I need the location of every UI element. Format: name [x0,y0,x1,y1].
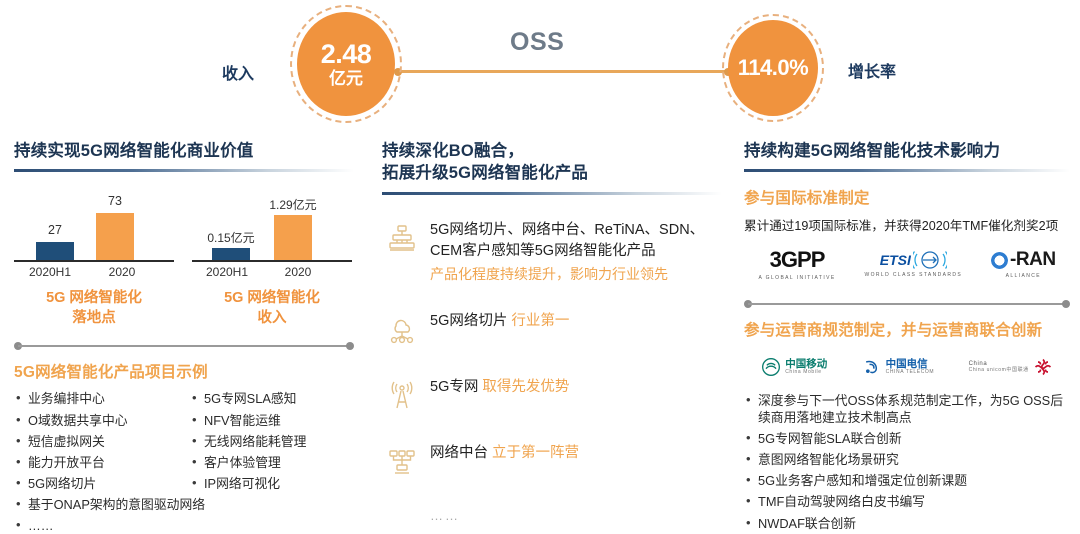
middle-row-text: 网络中台 立于第一阵营 [430,442,579,464]
chart-caption-line1: 5G 网络智能化 [192,289,352,309]
product-list-left: 业务编排中心 O域数据共享中心 短信虚拟网关 能力开放平台 5G网络切片 基于O… [14,391,184,534]
kpi-revenue-bubble: 2.48 亿元 [290,5,402,123]
list-item: NFV智能运维 [190,413,353,430]
3gpp-wordmark: 3GPP [770,247,825,273]
chart-caption-line2: 落地点 [14,309,174,329]
hero-center-title: OSS [510,28,564,57]
china-unicom-text: China China unicom中国联通 [969,361,1029,373]
middle-rows: 5G网络切片、网络中台、ReTiNA、SDN、 CEM客户感知等5G网络智能化产… [382,219,722,524]
chart-plot-area: 0.15亿元 1.29亿元 [192,188,352,262]
chart-category-label: 2020 [262,265,334,279]
right-column-title: 持续构建5G网络智能化技术影响力 [744,140,1070,162]
standards-logo-row: 3GPP A GLOBAL INITIATIVE ETSI World Clas… [744,242,1070,286]
hero-kpi-band: 收入 2.48 亿元 OSS 114.0% 增长率 [0,0,1080,128]
chart-landing-points: 27 73 2020H1 2020 5G 网络智能化 落地点 [14,188,174,328]
row-main-text: 5G网络切片 [430,313,507,329]
list-item: 短信虚拟网关 [14,434,184,451]
oran-tagline: ALLIANCE [1006,273,1041,279]
server-stack-icon [382,219,422,259]
antenna-tower-icon [382,376,422,416]
left-column-title: 持续实现5G网络智能化商业价值 [14,140,354,162]
list-item: NWDAF联合创新 [744,516,1070,533]
international-standards-note: 累计通过19项国际标准，并获得2020年TMF催化剂奖2项 [744,215,1070,234]
section-divider [14,342,354,350]
middle-title-line2: 拓展升级5G网络智能化产品 [382,162,722,184]
row-highlight: 行业第一 [511,313,569,329]
list-item: 无线网络能耗管理 [190,434,353,451]
row-main-line1: 5G网络切片 行业第一 [430,311,569,332]
list-item: 5G专网智能SLA联合创新 [744,431,1070,448]
chart-category-label: 2020H1 [192,265,262,279]
china-mobile-text: 中国移动 China Mobile [785,359,827,375]
list-item: IP网络可视化 [190,476,353,493]
bubble-body: 2.48 亿元 [297,12,395,116]
row-main-line2: CEM客户感知等5G网络智能化产品 [430,241,704,262]
bar-2020: 1.29亿元 [274,215,312,260]
3gpp-tagline: A GLOBAL INITIATIVE [758,275,835,281]
3gpp-logo: 3GPP A GLOBAL INITIATIVE [758,247,835,281]
row-highlight: 取得先发优势 [482,379,569,395]
bar-charts-group: 27 73 2020H1 2020 5G 网络智能化 落地点 [14,188,354,328]
list-item: 客户体验管理 [190,455,353,472]
section-divider [744,300,1070,308]
chart-caption: 5G 网络智能化 收入 [192,289,352,328]
middle-row-private-network: 5G专网 取得先发优势 [382,376,722,416]
chart-revenue: 0.15亿元 1.29亿元 2020H1 2020 5G 网络智能化 收入 [192,188,352,328]
chart-category-row: 2020H1 2020 [192,265,352,279]
chart-category-label: 2020H1 [14,265,86,279]
row-main-line1: 网络中台 立于第一阵营 [430,443,579,464]
divider-dot-right [1062,300,1070,308]
operator-name-en: CHINA TELECOM [886,370,935,375]
cloud-network-icon [382,310,422,350]
middle-row-text: 5G专网 取得先发优势 [430,376,569,398]
china-telecom-icon [862,357,882,377]
bar-value-label: 27 [48,223,62,237]
bubble-body: 114.0% [728,20,818,116]
bar-2020h1: 27 [36,242,74,260]
row-main-line1: 5G网络切片、网络中台、ReTiNA、SDN、 [430,220,704,241]
middle-row-text: 5G网络切片 行业第一 [430,310,569,332]
title-underline [744,169,1070,172]
product-examples-title: 5G网络智能化产品项目示例 [14,360,354,382]
list-item: 5G专网SLA感知 [190,391,353,408]
etsi-mark: ETSI [880,250,947,270]
middle-ellipsis: …… [430,508,722,523]
bar-value-label: 0.15亿元 [207,229,254,246]
china-mobile-logo: 中国移动 China Mobile [761,357,827,377]
etsi-logo: ETSI World Class Standards [865,250,963,278]
china-telecom-text: 中国电信 CHINA TELECOM [886,359,935,375]
chart-plot-area: 27 73 [14,188,174,262]
middle-column-title: 持续深化BO融合， 拓展升级5G网络智能化产品 [382,140,722,185]
etsi-tagline: World Class Standards [865,272,963,278]
china-telecom-logo: 中国电信 CHINA TELECOM [862,357,935,377]
middle-row-network-midplatform: 网络中台 立于第一阵营 [382,442,722,482]
oran-mark: -RAN [991,249,1056,271]
title-underline [14,169,354,172]
title-underline [382,192,722,195]
bar-2020h1: 0.15亿元 [212,248,250,260]
operator-logo-row: 中国移动 China Mobile 中国电信 CHINA TELECOM Chi… [744,349,1070,385]
oran-logo: -RAN ALLIANCE [991,249,1056,279]
middle-row-products: 5G网络切片、网络中台、ReTiNA、SDN、 CEM客户感知等5G网络智能化产… [382,219,722,285]
slide-canvas: 收入 2.48 亿元 OSS 114.0% 增长率 持续实现5G网络智能化商业价… [0,0,1080,534]
list-item: TMF自动驾驶网络白皮书编写 [744,494,1070,511]
list-item: 能力开放平台 [14,455,184,472]
list-item: 基于ONAP架构的意图驱动网络 [14,497,224,514]
product-examples-lists: 业务编排中心 O域数据共享中心 短信虚拟网关 能力开放平台 5G网络切片 基于O… [14,391,354,534]
list-item: …… [14,518,184,534]
row-main-line1: 5G专网 取得先发优势 [430,377,569,398]
row-highlight: 立于第一阵营 [492,445,579,461]
list-item: 5G业务客户感知和增强定位创新课题 [744,473,1070,490]
middle-row-slicing: 5G网络切片 行业第一 [382,310,722,350]
list-item: O域数据共享中心 [14,413,184,430]
operator-collaboration-title: 参与运营商规范制定，并与运营商联合创新 [744,318,1070,340]
oran-ring-icon [991,252,1008,269]
china-unicom-icon [1033,357,1053,377]
bar-fill [96,213,134,260]
kpi-revenue-value: 2.48 [321,40,372,68]
chart-axis-line [14,260,174,262]
operator-name-cn: China unicom中国联通 [969,368,1029,373]
row-note: 产品化程度持续提升，影响力行业领先 [430,265,704,285]
chart-category-row: 2020H1 2020 [14,265,174,279]
international-standards-title: 参与国际标准制定 [744,186,1070,208]
kpi-growth-bubble: 114.0% [722,14,824,122]
bar-value-label: 1.29亿元 [269,196,316,213]
middle-column: 持续深化BO融合， 拓展升级5G网络智能化产品 5G网络切片、网络 [382,140,722,523]
kpi-left-label: 收入 [222,60,254,84]
kpi-connector-line [397,70,729,73]
right-column: 持续构建5G网络智能化技术影响力 参与国际标准制定 累计通过19项国际标准，并获… [744,140,1070,534]
list-item: 业务编排中心 [14,391,184,408]
bar-value-label: 73 [108,194,122,208]
bar-fill [212,248,250,260]
bar-fill [274,215,312,260]
left-column: 持续实现5G网络智能化商业价值 27 73 2020H1 [14,140,354,534]
bar-fill [36,242,74,260]
china-mobile-icon [761,357,781,377]
kpi-growth-value: 114.0% [738,56,808,79]
bar-2020: 73 [96,213,134,260]
etsi-wordmark: ETSI [880,252,911,268]
chart-caption-line2: 收入 [192,309,352,329]
chart-caption: 5G 网络智能化 落地点 [14,289,174,328]
chart-category-label: 2020 [86,265,158,279]
kpi-right-label: 增长率 [848,58,896,82]
chart-caption-line1: 5G 网络智能化 [14,289,174,309]
chart-axis-line [192,260,352,262]
list-item: 深度参与下一代OSS体系规范制定工作，为5G OSS后续商用落地建立技术制高点 [744,393,1070,426]
divider-dot-right [346,342,354,350]
china-unicom-logo: China China unicom中国联通 [969,357,1053,377]
kpi-revenue-unit: 亿元 [329,70,363,88]
etsi-waves-icon [913,250,947,270]
divider-line [748,303,1066,305]
row-main-text: 网络中台 [430,445,488,461]
network-hub-icon [382,442,422,482]
list-item: 意图网络智能化场景研究 [744,452,1070,469]
oran-wordmark: -RAN [1010,249,1056,271]
list-item: 5G网络切片 [14,476,184,493]
operator-innovation-list: 深度参与下一代OSS体系规范制定工作，为5G OSS后续商用落地建立技术制高点 … [744,393,1070,534]
row-main-text: 5G专网 [430,379,478,395]
divider-line [18,345,350,347]
middle-title-line1: 持续深化BO融合， [382,140,722,162]
middle-row-text: 5G网络切片、网络中台、ReTiNA、SDN、 CEM客户感知等5G网络智能化产… [430,219,704,285]
operator-name-en: China Mobile [785,370,827,375]
